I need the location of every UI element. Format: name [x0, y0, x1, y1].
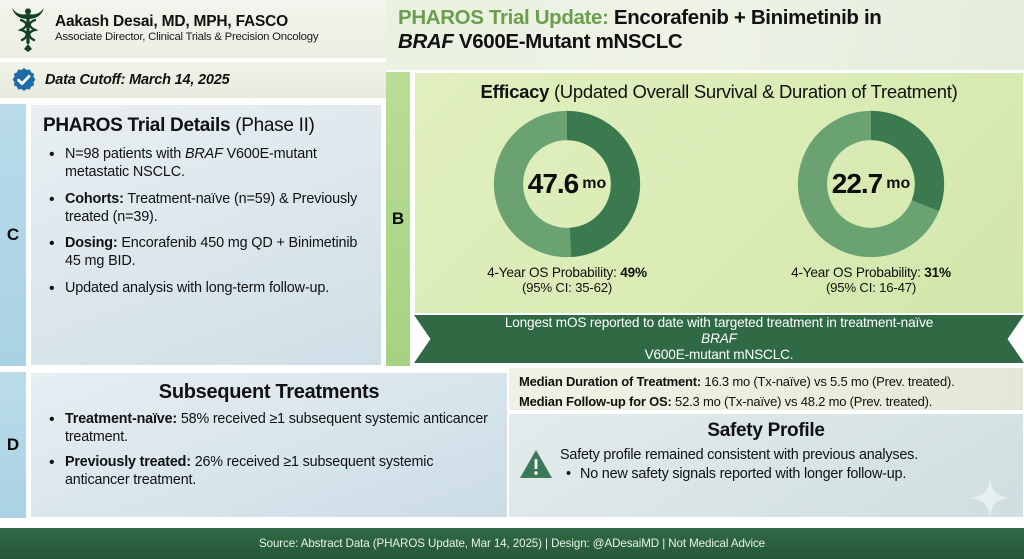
footer-bar: Source: Abstract Data (PHAROS Update, Ma…: [0, 528, 1024, 559]
panel-marker-d-label: D: [7, 435, 19, 455]
ribbon-gene-italic: BRAF: [505, 331, 933, 347]
median-row-1: Median Duration of Treatment: 16.3 mo (T…: [519, 372, 1015, 392]
efficacy-panel: Efficacy (Updated Overall Survival & Dur…: [414, 72, 1024, 314]
donut-2-os-line: 4-Year OS Probability: 31%: [741, 265, 1001, 280]
ribbon-line-2: BRAF V600E-mutant mNSCLC.: [505, 331, 933, 363]
author-name: Aakash Desai, MD, MPH, FASCO: [55, 14, 318, 31]
donut-2-center: 22.7 mo: [794, 107, 948, 261]
panel-marker-c: C: [0, 104, 26, 366]
highlight-ribbon: Longest mOS reported to date with target…: [414, 315, 1024, 363]
donut-row: 47.6 mo 4-Year OS Probability: 49% (95% …: [415, 107, 1023, 295]
trial-details-panel: PHAROS Trial Details (Phase II) N=98 pat…: [30, 104, 382, 366]
list-item: Treatment-naïve: 58% received ≥1 subsequ…: [43, 411, 495, 446]
list-item: Previously treated: 26% received ≥1 subs…: [43, 454, 495, 489]
panel-marker-c-label: C: [7, 225, 19, 245]
author-text-block: Aakash Desai, MD, MPH, FASCO Associate D…: [55, 14, 318, 43]
median-row-1-value: 16.3 mo (Tx-naïve) vs 5.5 mo (Prev. trea…: [701, 374, 955, 389]
infographic-canvas: Aakash Desai, MD, MPH, FASCO Associate D…: [0, 0, 1024, 559]
title-band: PHAROS Trial Update: Encorafenib + Binim…: [386, 0, 1024, 70]
median-row-2-label: Median Follow-up for OS:: [519, 394, 672, 409]
data-cutoff-row: Data Cutoff: March 14, 2025: [0, 62, 386, 98]
trial-details-heading: PHAROS Trial Details (Phase II): [43, 115, 369, 137]
bullet-3-post: Updated analysis with long-term follow-u…: [65, 280, 329, 296]
bullet-0-italic: BRAF: [185, 146, 223, 162]
efficacy-heading-bold: Efficacy: [481, 81, 550, 102]
median-stats-box: Median Duration of Treatment: 16.3 mo (T…: [508, 367, 1024, 411]
bullet-2-bold: Dosing:: [65, 235, 118, 251]
safety-line-2: No new safety signals reported with long…: [560, 465, 918, 484]
ribbon-line-2-rest: V600E-mutant mNSCLC.: [505, 347, 933, 363]
donut-group-1: 47.6 mo 4-Year OS Probability: 49% (95% …: [437, 107, 697, 295]
safety-line-1: Safety profile remained consistent with …: [560, 446, 918, 465]
donut-1-ci: (95% CI: 35-62): [437, 280, 697, 295]
median-row-1-label: Median Duration of Treatment:: [519, 374, 701, 389]
title-gene-italic: BRAF: [398, 30, 454, 53]
donut-2-unit: mo: [886, 175, 910, 193]
donut-1-os-line: 4-Year OS Probability: 49%: [437, 265, 697, 280]
donut-group-2: 22.7 mo 4-Year OS Probability: 31% (95% …: [741, 107, 1001, 295]
trial-details-heading-bold: PHAROS Trial Details: [43, 115, 230, 136]
safety-heading: Safety Profile: [519, 420, 1013, 442]
subsequent-heading: Subsequent Treatments: [43, 381, 495, 404]
title-line-2: BRAF V600E-Mutant mNSCLC: [398, 30, 1014, 54]
subsequent-treatments-panel: Subsequent Treatments Treatment-naïve: 5…: [30, 372, 508, 518]
efficacy-heading: Efficacy (Updated Overall Survival & Dur…: [415, 73, 1023, 103]
donut-2-value: 22.7: [832, 168, 883, 200]
trial-details-heading-phase: (Phase II): [230, 115, 314, 136]
subsequent-1-bold: Previously treated:: [65, 454, 191, 470]
list-item: Dosing: Encorafenib 450 mg QD + Binimeti…: [43, 235, 369, 271]
donut-1-value: 47.6: [528, 168, 579, 200]
donut-1-center: 47.6 mo: [490, 107, 644, 261]
title-accent: PHAROS Trial Update:: [398, 6, 609, 29]
subsequent-list: Treatment-naïve: 58% received ≥1 subsequ…: [43, 411, 495, 490]
bullet-0-text: N=98 patients with: [65, 146, 185, 162]
data-cutoff-text: Data Cutoff: March 14, 2025: [45, 72, 230, 88]
donut-2-os-label: 4-Year OS Probability:: [791, 265, 924, 280]
subsequent-0-bold: Treatment-naïve:: [65, 411, 177, 427]
safety-profile-panel: Safety Profile Safety profile remained c…: [508, 413, 1024, 518]
title-line-1-rest: Encorafenib + Binimetinib in: [609, 6, 882, 29]
median-row-2-value: 52.3 mo (Tx-naïve) vs 48.2 mo (Prev. tre…: [672, 394, 933, 409]
title-line-1: PHAROS Trial Update: Encorafenib + Binim…: [398, 6, 1014, 30]
warning-triangle-icon: [519, 448, 553, 480]
donut-1-os-value: 49%: [620, 265, 647, 280]
footer-text: Source: Abstract Data (PHAROS Update, Ma…: [259, 537, 765, 550]
panel-marker-d: D: [0, 372, 26, 518]
author-role: Associate Director, Clinical Trials & Pr…: [55, 31, 318, 43]
author-bar: Aakash Desai, MD, MPH, FASCO Associate D…: [0, 0, 386, 60]
donut-chart-2: 22.7 mo: [794, 107, 948, 261]
panel-marker-b-label: B: [392, 209, 404, 229]
verified-check-badge-icon: [11, 67, 37, 93]
bullet-1-bold: Cohorts:: [65, 191, 124, 207]
donut-2-os-value: 31%: [924, 265, 951, 280]
ribbon-text: Longest mOS reported to date with target…: [505, 315, 933, 363]
donut-1-os-label: 4-Year OS Probability:: [487, 265, 620, 280]
trial-details-list: N=98 patients with BRAF V600E-mutant met…: [43, 146, 369, 298]
safety-body: Safety profile remained consistent with …: [519, 446, 1013, 483]
list-item: Cohorts: Treatment-naïve (n=59) & Previo…: [43, 191, 369, 227]
donut-chart-1: 47.6 mo: [490, 107, 644, 261]
safety-lines: Safety profile remained consistent with …: [560, 446, 918, 483]
ribbon-line-1: Longest mOS reported to date with target…: [505, 315, 933, 331]
median-row-2: Median Follow-up for OS: 52.3 mo (Tx-naï…: [519, 392, 1015, 412]
list-item: N=98 patients with BRAF V600E-mutant met…: [43, 146, 369, 182]
panel-marker-b: B: [386, 72, 410, 366]
caduceus-icon: [8, 6, 48, 52]
sparkle-icon: [967, 475, 1013, 518]
donut-2-ci: (95% CI: 16-47): [741, 280, 1001, 295]
title-line-2-rest: V600E-Mutant mNSCLC: [454, 30, 683, 53]
donut-1-unit: mo: [582, 175, 606, 193]
efficacy-heading-sub: (Updated Overall Survival & Duration of …: [549, 81, 957, 102]
list-item: Updated analysis with long-term follow-u…: [43, 280, 369, 298]
